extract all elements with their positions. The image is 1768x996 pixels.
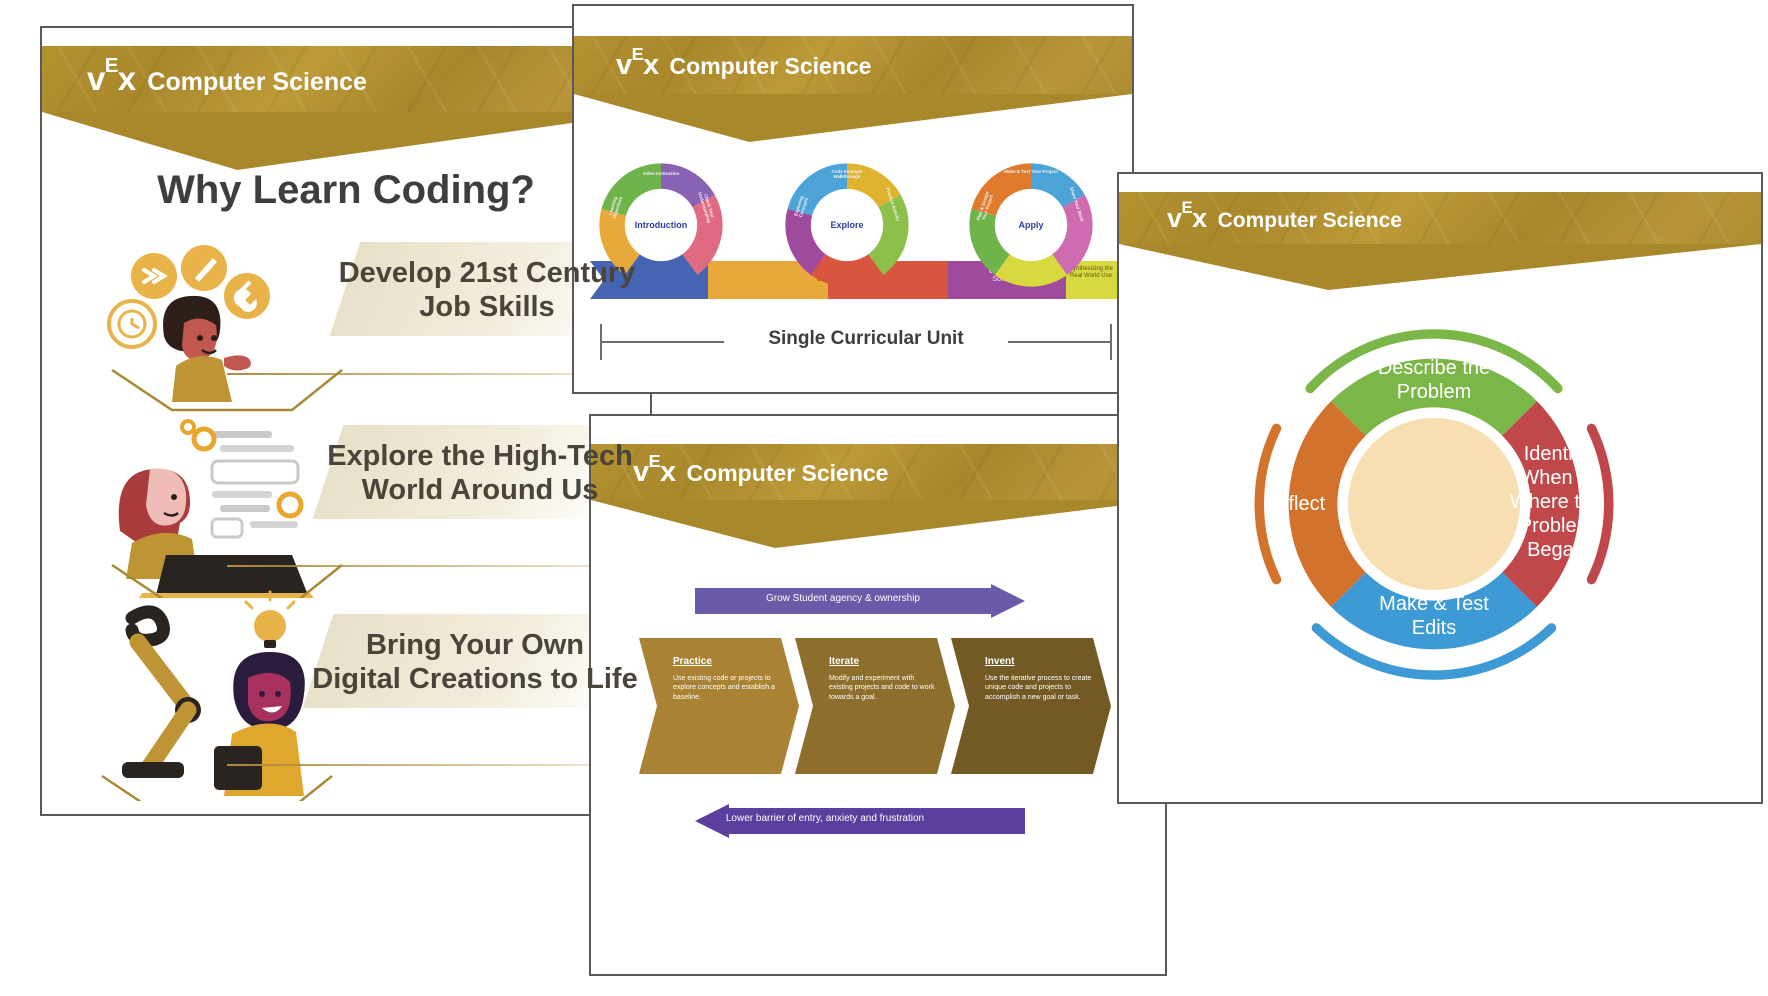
vex-logo-mark: vEx xyxy=(1167,203,1207,234)
vex-logo-v: v xyxy=(1167,203,1181,234)
benefit-row: Explore the High-Tech World Around Us xyxy=(42,413,652,598)
vex-banner: vEx Computer Science xyxy=(42,46,650,170)
vex-banner: vEx Computer Science xyxy=(591,444,1165,548)
slide-single-curricular-unit[interactable]: vEx Computer Science Transfer xyxy=(572,4,1134,394)
benefit-row: Bring Your Own Digital Creations to Life xyxy=(42,586,652,801)
vex-logo-x: x xyxy=(1192,203,1206,234)
donut-segment-label: Make & Test Your Project xyxy=(1002,170,1060,175)
chevron-heading: Practice xyxy=(673,656,781,667)
grow-agency-arrow-label: Grow Student agency & ownership xyxy=(695,593,991,604)
cycle-label-describe: Describe the Problem xyxy=(1356,356,1512,404)
vex-logo-e: E xyxy=(1181,200,1192,217)
chevron-description: Use existing code or projects to explore… xyxy=(673,674,781,702)
banner-tail xyxy=(574,94,1132,142)
lower-barrier-arrow-label: Lower barrier of entry, anxiety and frus… xyxy=(631,813,1019,824)
donut-segment-label: Code Example Walkthrough xyxy=(818,170,876,180)
cycle-label-reflect: Reflect xyxy=(1246,492,1342,516)
banner-title: Computer Science xyxy=(1218,209,1402,233)
donut-center-label: Introduction xyxy=(635,220,688,230)
chevron-description: Use the iterative process to create uniq… xyxy=(985,674,1093,702)
row-divider xyxy=(227,764,647,766)
curriculum-donut-explore: Explore Code Example Walkthrough Practic… xyxy=(780,158,914,292)
vex-logo-x: x xyxy=(660,456,676,489)
chevron-text: Iterate Modify and experiment with exist… xyxy=(829,656,937,702)
donut-center-label: Apply xyxy=(1018,220,1043,230)
chevron-text: Practice Use existing code or projects t… xyxy=(673,656,781,702)
slide-collage: vEx Computer Science Why Learn Coding? xyxy=(0,0,1768,996)
chevron-invent: Invent Use the iterative process to crea… xyxy=(951,638,1111,774)
vex-logo-x: x xyxy=(643,49,659,82)
vex-banner: vEx Computer Science xyxy=(574,36,1132,142)
vex-logo-x: x xyxy=(118,60,136,98)
row-divider xyxy=(227,565,647,567)
chevron-heading: Invent xyxy=(985,656,1093,667)
slide-practice-iterate-invent[interactable]: vEx Computer Science Grow Student agency… xyxy=(589,414,1167,976)
banner-title: Computer Science xyxy=(670,53,872,80)
kid-juggling-skill-icons-illustration xyxy=(92,218,362,413)
chevron-heading: Iterate xyxy=(829,656,937,667)
cycle-label-identify: Identify When & Where the Problem Began xyxy=(1508,442,1604,562)
chevron-iterate: Iterate Modify and experiment with exist… xyxy=(795,638,955,774)
donut-segment-label: Video Instruction xyxy=(632,172,690,177)
banner-tail xyxy=(42,112,650,170)
benefit-line-1: Bring Your Own xyxy=(366,629,584,661)
vex-logo-v: v xyxy=(616,49,632,82)
slide-debugging-cycle[interactable]: vEx Computer Science xyxy=(1117,172,1763,804)
benefit-line-1: Explore the High-Tech xyxy=(327,440,633,472)
unit-label: Single Curricular Unit xyxy=(724,328,1008,350)
chevron-text: Invent Use the iterative process to crea… xyxy=(985,656,1093,702)
vex-logo-v: v xyxy=(87,60,105,98)
donut-center-label: Explore xyxy=(830,220,863,230)
slide-why-learn-coding[interactable]: vEx Computer Science Why Learn Coding? xyxy=(40,26,652,816)
banner-tail xyxy=(1119,244,1761,290)
banner-title: Computer Science xyxy=(147,68,367,97)
benefit-line-1: Develop 21st Century xyxy=(339,257,636,289)
benefit-line-2: Job Skills xyxy=(419,291,554,323)
chevron-practice: Practice Use existing code or projects t… xyxy=(639,638,799,774)
vex-logo-e: E xyxy=(105,56,118,76)
curriculum-donut-apply: Apply Make & Test Your Project Share You… xyxy=(964,158,1098,292)
banner-tail xyxy=(591,500,1165,548)
cycle-label-make-test: Make & Test Edits xyxy=(1358,592,1510,640)
benefit-line-2: Digital Creations to Life xyxy=(312,663,637,695)
benefit-row: Develop 21st Century Job Skills xyxy=(42,218,652,413)
banner-title: Computer Science xyxy=(687,460,889,487)
vex-logo-e: E xyxy=(632,45,643,63)
chevron-description: Modify and experiment with existing proj… xyxy=(829,674,937,702)
vex-banner: vEx Computer Science xyxy=(1119,192,1761,290)
debugging-cycle-diagram: Describe the Problem Identify When & Whe… xyxy=(1224,294,1644,714)
vex-logo-mark: vEx xyxy=(87,60,135,98)
page-title: Why Learn Coding? xyxy=(42,168,650,213)
vex-logo-e: E xyxy=(649,452,660,470)
benefit-line-2: World Around Us xyxy=(362,474,599,506)
vex-logo-mark: vEx xyxy=(616,49,659,82)
